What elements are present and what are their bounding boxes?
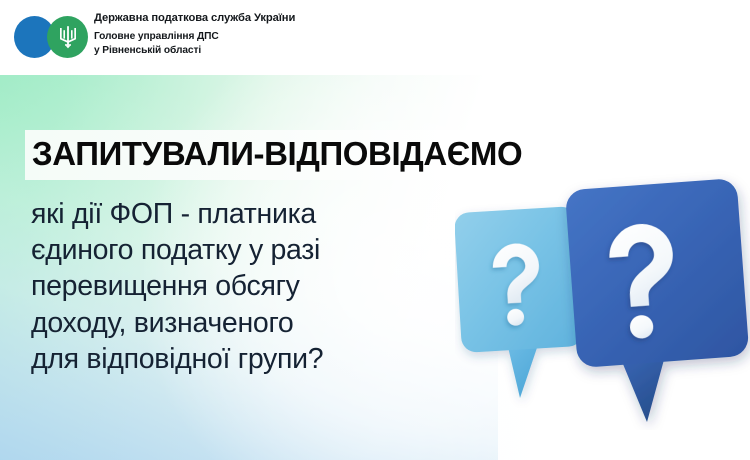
headline-title: ЗАПИТУВАЛИ-ВІДПОВІДАЄМО — [32, 132, 522, 178]
poster-canvas: Державна податкова служба України Головн… — [0, 0, 750, 460]
question-line: перевищення обсягу — [31, 268, 471, 304]
question-line: які дії ФОП - платника — [31, 196, 471, 232]
dark-blue-question-bubble — [565, 178, 750, 422]
org-name-region: у Рівненській області — [94, 44, 494, 58]
question-line: єдиного податку у разі — [31, 232, 471, 268]
dps-logo — [14, 16, 88, 58]
speech-bubbles-illustration — [455, 170, 750, 430]
ukrainian-trident-icon — [59, 25, 77, 49]
organization-text: Державна податкова служба України Головн… — [94, 11, 494, 57]
header-bar: Державна податкова служба України Головн… — [0, 0, 750, 75]
question-line: доходу, визначеного — [31, 305, 471, 341]
org-name-primary: Державна податкова служба України — [94, 11, 494, 26]
org-name-secondary: Головне управління ДПС — [94, 30, 494, 44]
question-line: для відповідної групи? — [31, 341, 471, 377]
question-text-block: які дії ФОП - платника єдиного податку у… — [31, 196, 471, 377]
